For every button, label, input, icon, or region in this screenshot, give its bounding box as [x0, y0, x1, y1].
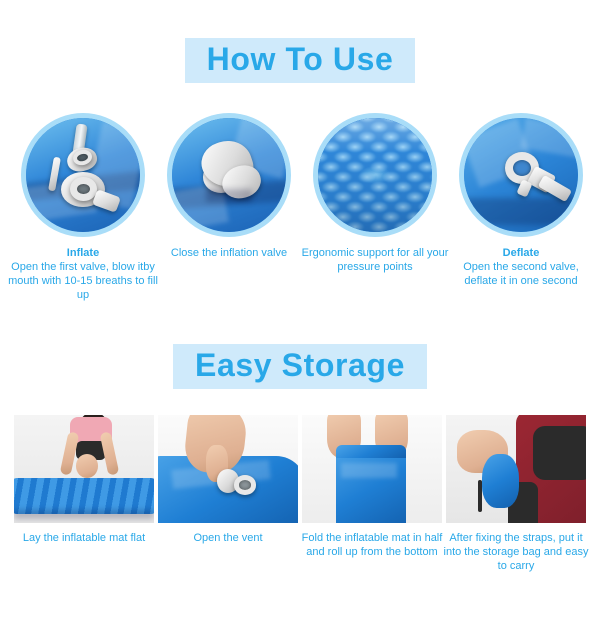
- step-ergonomic-support-caption: Ergonomic support for all your pressure …: [300, 246, 450, 274]
- step-inflate: Inflate Open the first valve, blow itby …: [10, 113, 156, 302]
- step-ergonomic-support-image: [313, 113, 437, 237]
- step-deflate-title: Deflate: [446, 246, 596, 260]
- step-deflate-text: Open the second valve, deflate it in one…: [463, 261, 579, 287]
- step-inflate-title: Inflate: [8, 246, 158, 260]
- how-to-use-steps: Inflate Open the first valve, blow itby …: [0, 113, 600, 302]
- banner-how-to-use: How To Use: [185, 38, 416, 83]
- step-deflate: Deflate Open the second valve, deflate i…: [448, 113, 594, 288]
- storage-step-open-vent-image: [158, 415, 298, 523]
- step-deflate-image: [459, 113, 583, 237]
- step-deflate-caption: Deflate Open the second valve, deflate i…: [446, 246, 596, 288]
- step-inflate-caption: Inflate Open the first valve, blow itby …: [8, 246, 158, 302]
- step-close-valve-caption: Close the inflation valve: [154, 246, 304, 260]
- storage-step-fold: Fold the inflatable mat in half and roll…: [302, 415, 442, 573]
- section-heading-easy-storage: Easy Storage: [0, 344, 600, 389]
- section-heading-how-to-use: How To Use: [0, 38, 600, 83]
- infographic-page: How To Use: [0, 38, 600, 638]
- banner-easy-storage-text: Easy Storage: [195, 347, 405, 383]
- storage-step-open-vent-caption: Open the vent: [154, 531, 302, 545]
- step-ergonomic-support-text: Ergonomic support for all your pressure …: [302, 247, 449, 273]
- step-inflate-image: [21, 113, 145, 237]
- banner-how-to-use-text: How To Use: [207, 41, 394, 77]
- easy-storage-steps: Lay the inflatable mat flat Open the ven…: [0, 415, 600, 573]
- step-close-valve-text: Close the inflation valve: [171, 247, 287, 259]
- storage-step-fold-image: [302, 415, 442, 523]
- storage-step-pack-bag-caption: After fixing the straps, put it into the…: [442, 531, 590, 573]
- banner-easy-storage: Easy Storage: [173, 344, 427, 389]
- storage-step-pack-bag-image: [446, 415, 586, 523]
- step-ergonomic-support: Ergonomic support for all your pressure …: [302, 113, 448, 274]
- storage-step-lay-flat-image: [14, 415, 154, 523]
- storage-step-fold-caption: Fold the inflatable mat in half and roll…: [298, 531, 446, 559]
- step-inflate-text: Open the first valve, blow itby mouth wi…: [8, 261, 158, 301]
- step-close-valve: Close the inflation valve: [156, 113, 302, 260]
- storage-step-open-vent: Open the vent: [158, 415, 298, 573]
- storage-step-lay-flat: Lay the inflatable mat flat: [14, 415, 154, 573]
- storage-step-pack-bag: After fixing the straps, put it into the…: [446, 415, 586, 573]
- storage-step-lay-flat-caption: Lay the inflatable mat flat: [10, 531, 158, 545]
- step-close-valve-image: [167, 113, 291, 237]
